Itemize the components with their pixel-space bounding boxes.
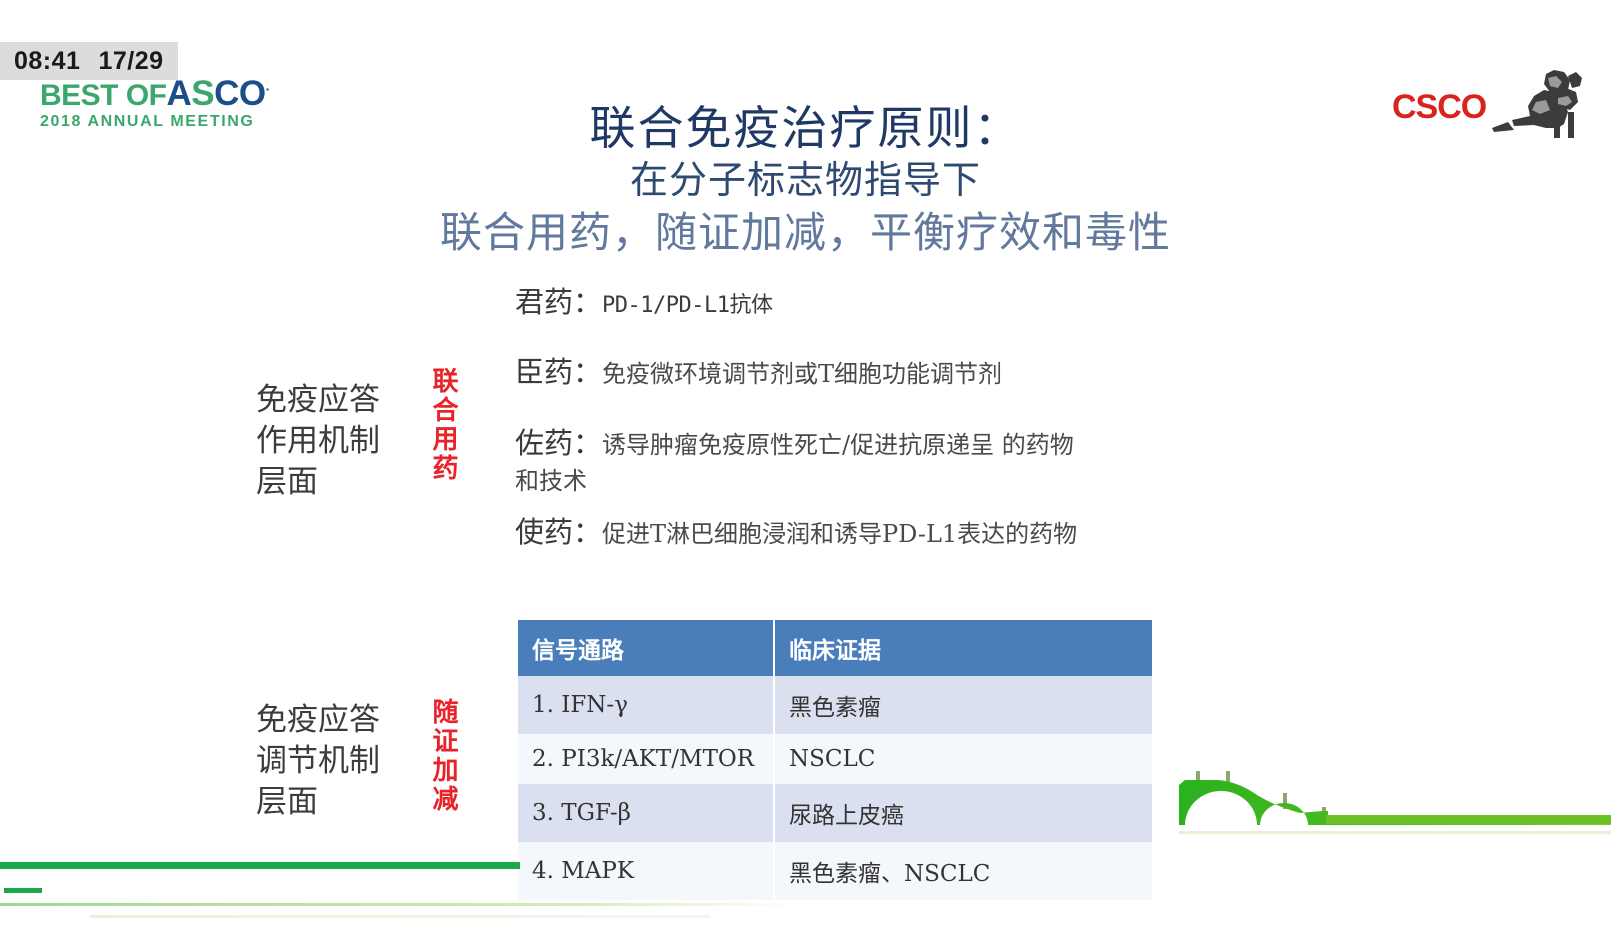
title-line-3: 联合用药，随证加减，平衡疗效和毒性 [0, 206, 1611, 261]
table-cell-evidence: 尿路上皮癌 [774, 784, 1152, 842]
green-accent-dash [4, 888, 42, 893]
table-cell-pathway: 4. MAPK [518, 842, 774, 900]
drug-role-minister: 臣药：免疫微环境调节剂或T细胞功能调节剂 [515, 352, 1135, 393]
table-row: 1. IFN-γ 黑色素瘤 [518, 676, 1152, 734]
table-cell-evidence: 黑色素瘤 [774, 676, 1152, 734]
drug-role-label-0: 君药： [515, 285, 602, 319]
timestamp-page-indicator: 17/29 [98, 47, 163, 76]
title-line-2: 在分子标志物指导下 [0, 156, 1611, 205]
title-line-1: 联合免疫治疗原则： [0, 100, 1611, 156]
slide-canvas: 08:41 17/29 BEST OFASCO· 2018 ANNUAL MEE… [0, 0, 1611, 940]
green-faint-line-secondary [90, 915, 710, 918]
category-label-immune-response-mechanism: 免疫应答 作用机制 层面 [256, 380, 380, 503]
drug-role-label-1: 臣药： [515, 355, 602, 389]
table-cell-evidence: 黑色素瘤、NSCLC [774, 842, 1152, 900]
vertical-label-combination-therapy: 联合用药 [430, 367, 456, 483]
drug-role-body-1: 免疫微环境调节剂或T细胞功能调节剂 [602, 360, 1002, 388]
table-header-clinical-evidence: 临床证据 [774, 620, 1152, 676]
table-row: 3. TGF-β 尿路上皮癌 [518, 784, 1152, 842]
table-cell-pathway: 2. PI3k/AKT/MTOR [518, 734, 774, 784]
table-cell-pathway: 1. IFN-γ [518, 676, 774, 734]
timestamp-overlay: 08:41 17/29 [0, 42, 178, 80]
green-bridge-graphic-icon [1150, 745, 1611, 875]
drug-role-courier: 使药：促进T淋巴细胞浸润和诱导PD-L1表达的药物 [515, 512, 1115, 553]
table-cell-pathway: 3. TGF-β [518, 784, 774, 842]
green-faint-line [0, 903, 800, 906]
asco-trademark-mark: · [266, 81, 270, 97]
signal-pathway-table-wrapper: 信号通路 临床证据 1. IFN-γ 黑色素瘤 2. PI3k/AKT/MTOR… [518, 620, 1152, 900]
category-label-immune-response-regulation: 免疫应答 调节机制 层面 [256, 700, 380, 823]
green-divider-line [0, 862, 520, 869]
drug-role-body-0: PD-1/PD-L1抗体 [602, 293, 772, 318]
table-header-signal-pathway: 信号通路 [518, 620, 774, 676]
page-title: 联合免疫治疗原则： 在分子标志物指导下 联合用药，随证加减，平衡疗效和毒性 [0, 100, 1611, 260]
drug-role-monarch: 君药：PD-1/PD-L1抗体 [515, 282, 1135, 323]
vertical-label-adjust-by-syndrome: 随证加减 [430, 698, 456, 814]
table-row: 4. MAPK 黑色素瘤、NSCLC [518, 842, 1152, 900]
table-header-row: 信号通路 临床证据 [518, 620, 1152, 676]
drug-role-body-3: 促进T淋巴细胞浸润和诱导PD-L1表达的药物 [602, 520, 1077, 548]
timestamp-time: 08:41 [14, 47, 80, 76]
signal-pathway-table: 信号通路 临床证据 1. IFN-γ 黑色素瘤 2. PI3k/AKT/MTOR… [518, 620, 1152, 900]
table-row: 2. PI3k/AKT/MTOR NSCLC [518, 734, 1152, 784]
drug-role-label-2: 佐药： [515, 426, 602, 460]
drug-role-label-3: 使药： [515, 515, 602, 549]
drug-role-assistant: 佐药：诱导肿瘤免疫原性死亡/促进抗原递呈 的药物和技术 [515, 423, 1075, 498]
table-cell-evidence: NSCLC [774, 734, 1152, 784]
